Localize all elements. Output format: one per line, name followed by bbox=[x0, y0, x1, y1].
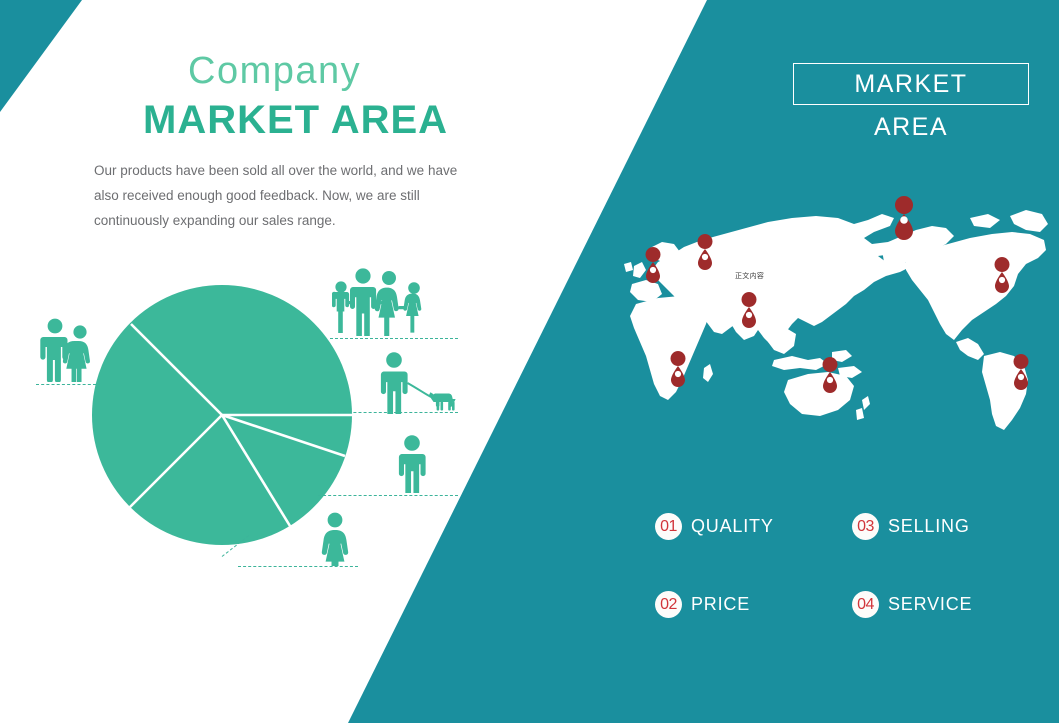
market-share-pie-chart bbox=[92, 285, 352, 545]
leader-line-family bbox=[330, 338, 458, 339]
leader-line-single-woman bbox=[238, 566, 358, 567]
map-pin-alaska[interactable] bbox=[895, 196, 913, 240]
single-man-icon bbox=[391, 435, 433, 493]
feature-item-selling[interactable]: 03 SELLING bbox=[852, 513, 970, 540]
page-title-large: MARKET AREA bbox=[143, 98, 448, 143]
area-subtitle: AREA bbox=[793, 113, 1029, 142]
feature-item-price[interactable]: 02 PRICE bbox=[655, 591, 750, 618]
greenland bbox=[1010, 210, 1048, 232]
feature-badge-01: 01 bbox=[655, 513, 682, 540]
feature-number: 01 bbox=[660, 519, 677, 535]
feature-badge-03: 03 bbox=[852, 513, 879, 540]
feature-label: SELLING bbox=[888, 516, 970, 537]
ireland bbox=[624, 262, 633, 272]
feature-label: SERVICE bbox=[888, 594, 972, 615]
feature-number: 04 bbox=[857, 597, 874, 613]
leader-line-couple bbox=[36, 384, 96, 385]
feature-number: 02 bbox=[660, 597, 677, 613]
leader-line-single-man bbox=[318, 495, 458, 496]
feature-badge-02: 02 bbox=[655, 591, 682, 618]
page-title-small: Company bbox=[188, 50, 361, 93]
new-zealand-north bbox=[862, 396, 870, 410]
central-america bbox=[956, 338, 984, 360]
feature-number: 03 bbox=[857, 519, 874, 535]
new-zealand-south bbox=[856, 408, 864, 420]
british-isles bbox=[633, 262, 646, 278]
dog-walker-icon bbox=[378, 352, 460, 414]
indonesia bbox=[772, 356, 828, 370]
feature-badge-04: 04 bbox=[852, 591, 879, 618]
madagascar bbox=[703, 364, 713, 382]
market-title-box: MARKET bbox=[793, 63, 1029, 105]
market-title-text: MARKET bbox=[854, 70, 967, 99]
feature-label: QUALITY bbox=[691, 516, 774, 537]
family-icon bbox=[332, 268, 432, 336]
intro-paragraph: Our products have been sold all over the… bbox=[94, 158, 466, 233]
couple-icon bbox=[38, 318, 94, 382]
map-landmasses bbox=[624, 210, 1048, 430]
single-woman-icon bbox=[316, 512, 354, 566]
feature-item-service[interactable]: 04 SERVICE bbox=[852, 591, 972, 618]
world-map bbox=[606, 192, 1052, 442]
left-panel: Company MARKET AREA Our products have be… bbox=[0, 0, 520, 723]
africa bbox=[630, 296, 710, 400]
feature-label: PRICE bbox=[691, 594, 750, 615]
map-placeholder-text: 正文内容 bbox=[735, 271, 764, 281]
slide: Company MARKET AREA Our products have be… bbox=[0, 0, 1059, 723]
australia bbox=[784, 372, 854, 416]
feature-item-quality[interactable]: 01 QUALITY bbox=[655, 513, 774, 540]
arctic-islands bbox=[970, 214, 1000, 228]
